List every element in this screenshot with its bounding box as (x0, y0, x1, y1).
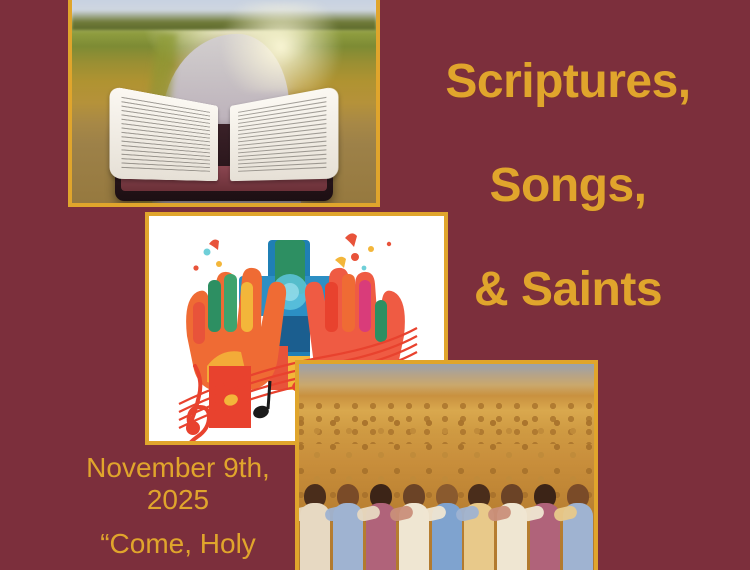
bible-right-page (230, 86, 339, 182)
saint-figure (528, 478, 561, 570)
saint-figure (561, 478, 594, 570)
foreground-figures (299, 478, 594, 570)
communion-of-saints-painting (295, 360, 598, 570)
saint-figure (430, 478, 463, 570)
saint-figure (365, 478, 398, 570)
saints-painting-art (299, 364, 594, 570)
saint-figure (463, 478, 496, 570)
headline-line-1: Scriptures, (392, 30, 744, 134)
saint-figure (496, 478, 529, 570)
bible-on-path-photo (68, 0, 380, 207)
open-bible-icon (115, 97, 333, 201)
bible-photo-art (72, 0, 376, 203)
saint-figure (332, 478, 365, 570)
event-quote-line-1: “Come, Holy (62, 528, 294, 560)
poster-canvas: Scriptures, Songs, & Saints (0, 0, 750, 570)
event-date: November 9th, 2025 (62, 452, 294, 515)
event-date-line-1: November 9th, (62, 452, 294, 484)
event-date-line-2: 2025 (62, 484, 294, 516)
bible-text-lines (122, 97, 210, 172)
sun-glow (206, 2, 356, 92)
saint-figure (397, 478, 430, 570)
bible-left-page (110, 86, 219, 182)
event-quote: “Come, Holy (62, 528, 294, 560)
bible-text-lines (238, 97, 326, 172)
saint-figure (299, 478, 332, 570)
